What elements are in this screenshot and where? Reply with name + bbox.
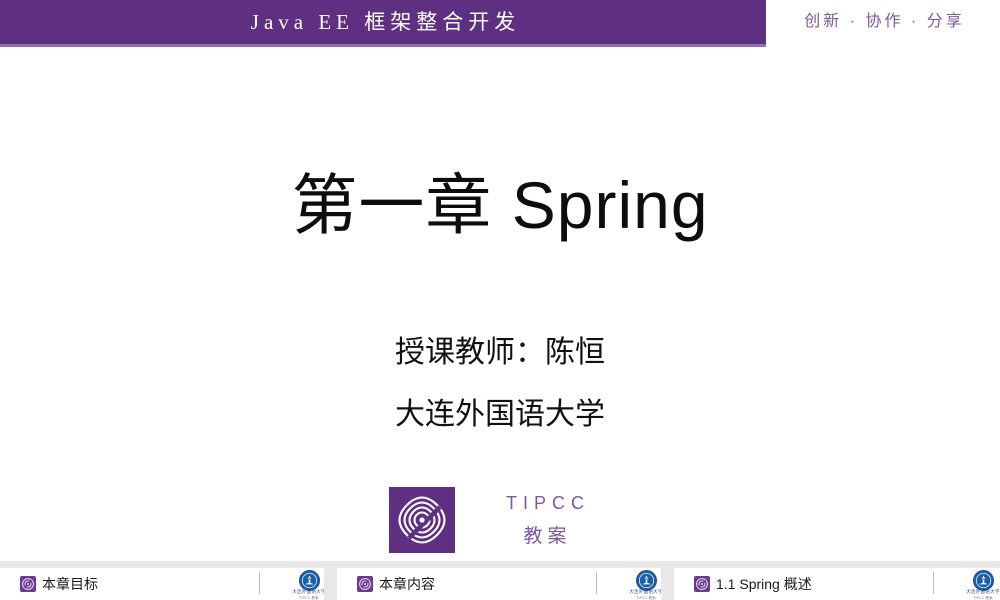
slide-thumbnail[interactable]: 1.1 Spring 概述 大连外国语大学 TIPCC 教案 — [674, 568, 1000, 600]
slide-thumbnail-label: 1.1 Spring 概述 — [716, 574, 812, 594]
university-seal-icon — [636, 570, 657, 591]
header-slogan: 创新 · 协作 · 分享 — [766, 0, 1000, 44]
course-title: Java EE 框架整合开发 — [0, 0, 766, 44]
institution-line: 大连外国语大学 — [0, 389, 1000, 433]
tipcc-spiral-icon — [357, 576, 373, 592]
university-seal-en: TIPCC 教案 — [964, 595, 1000, 600]
slide-thumbnail[interactable]: 本章目标 大连外国语大学 TIPCC 教案 — [0, 568, 324, 600]
tipcc-spiral-icon — [694, 576, 710, 592]
university-seal: 大连外国语大学 TIPCC 教案 — [290, 570, 324, 600]
thumbnail-divider — [596, 572, 597, 594]
university-seal: 大连外国语大学 TIPCC 教案 — [627, 570, 661, 600]
university-seal: 大连外国语大学 TIPCC 教案 — [964, 570, 1000, 600]
slide-thumbnail-strip[interactable]: 本章目标 大连外国语大学 TIPCC 教案 — [0, 568, 1000, 600]
slide-thumbnail-label: 本章内容 — [379, 574, 435, 594]
tipcc-spiral-mark-icon — [389, 487, 455, 553]
tipcc-wordmark: TIPCC — [471, 493, 619, 514]
thumbnail-divider — [259, 572, 260, 594]
slide-thumbnail-label: 本章目标 — [42, 574, 98, 594]
university-seal-en: TIPCC 教案 — [290, 595, 324, 600]
tipcc-logo-text: TIPCC 教案 — [471, 487, 619, 553]
page-title: 第一章 Spring — [0, 152, 1000, 248]
instructor-line: 授课教师：陈恒 — [0, 327, 1000, 371]
thumbnail-divider — [933, 572, 934, 594]
slide-header: Java EE 框架整合开发 创新 · 协作 · 分享 — [0, 0, 1000, 47]
university-seal-icon — [299, 570, 320, 591]
tipcc-logo-lockup: TIPCC 教案 — [389, 487, 619, 553]
tipcc-spiral-icon — [20, 576, 36, 592]
filmstrip-separator — [0, 561, 1000, 568]
university-seal-en: TIPCC 教案 — [627, 595, 661, 600]
tipcc-subtitle: 教案 — [471, 521, 619, 548]
slide-body: 第一章 Spring 授课教师：陈恒 大连外国语大学 TIPCC 教案 — [0, 47, 1000, 561]
university-seal-icon — [973, 570, 994, 591]
slide-thumbnail[interactable]: 本章内容 大连外国语大学 TIPCC 教案 — [337, 568, 661, 600]
